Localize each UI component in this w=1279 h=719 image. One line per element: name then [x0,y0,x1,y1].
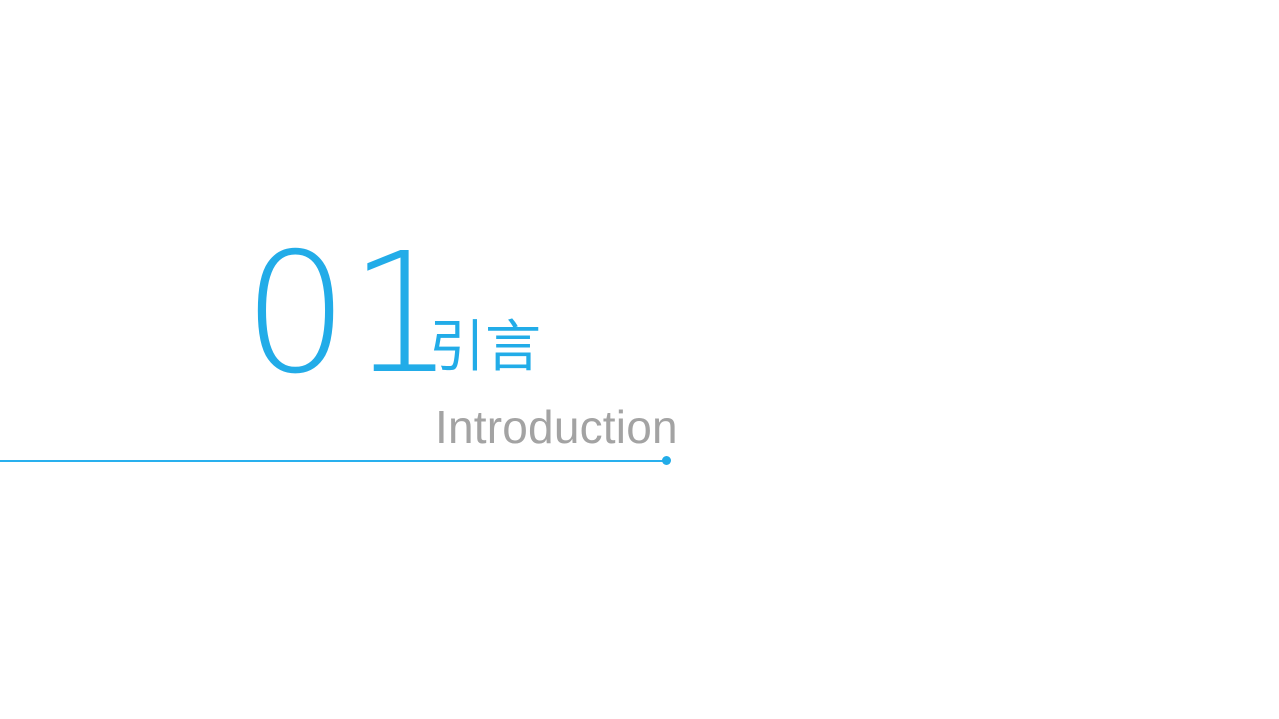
accent-dot-icon [662,456,671,465]
section-title-english: Introduction [435,403,678,453]
section-title-chinese: 引言 [429,318,541,378]
section-number: 01 [243,232,455,398]
accent-rule [0,460,667,462]
section-divider-slide: 01 引言 Introduction [0,0,1279,719]
